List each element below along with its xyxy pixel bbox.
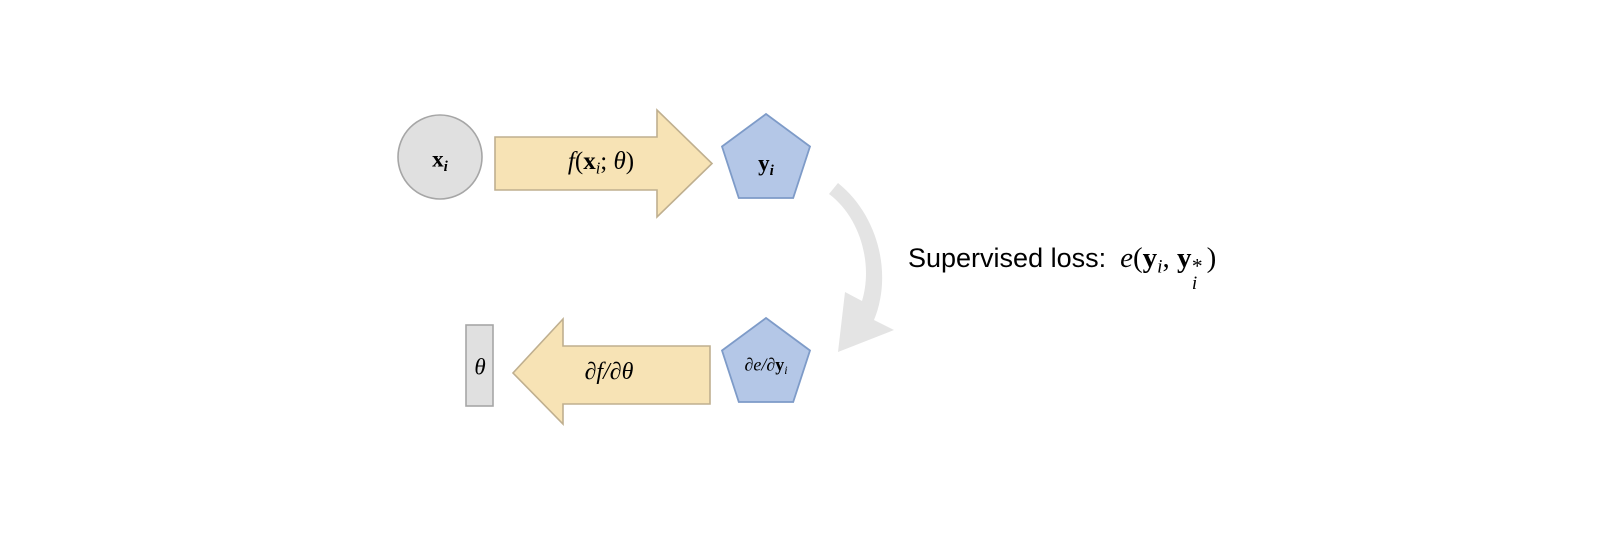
grad-pentagon-shape bbox=[722, 318, 810, 402]
diagram-shapes bbox=[0, 0, 1600, 540]
forward-arrow-shape bbox=[495, 110, 712, 217]
loss-sub2: i bbox=[1192, 273, 1197, 294]
loss-close-paren: ) bbox=[1207, 242, 1217, 274]
loss-open-paren: ( bbox=[1133, 242, 1143, 274]
loss-formula: e(yi, y*i) bbox=[1120, 242, 1216, 274]
loss-comma: , bbox=[1162, 242, 1177, 274]
backward-arrow-shape bbox=[513, 319, 710, 424]
output-pentagon-shape bbox=[722, 114, 810, 198]
loss-fn: e bbox=[1120, 242, 1133, 274]
input-circle-shape bbox=[398, 115, 482, 199]
loss-y1: y bbox=[1143, 242, 1158, 274]
loss-prefix: Supervised loss: bbox=[908, 243, 1106, 273]
loss-annotation: Supervised loss:e(yi, y*i) bbox=[908, 243, 1216, 278]
loss-y2: y bbox=[1177, 242, 1192, 274]
loss-curve-shape bbox=[829, 183, 894, 352]
diagram-canvas: xi f(xi; θ) yi ∂e/∂yi ∂f/∂θ θ Supervised… bbox=[0, 0, 1600, 540]
param-rect-shape bbox=[466, 325, 493, 406]
